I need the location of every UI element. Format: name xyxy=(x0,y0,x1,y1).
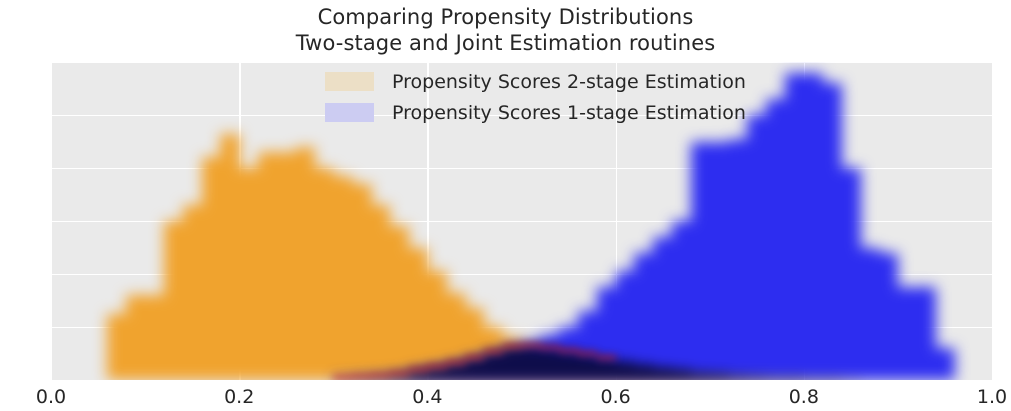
overlap-edge-segment xyxy=(409,368,428,371)
x-tick-label: 0.6 xyxy=(600,386,630,408)
x-tick-label: 0.4 xyxy=(412,386,442,408)
x-tick-label: 1.0 xyxy=(977,386,1007,408)
overlap-edge-segment xyxy=(540,346,559,349)
legend-swatch-1stage-icon xyxy=(325,103,374,122)
overlap-edge-segment xyxy=(559,349,578,352)
chart-legend: Propensity Scores 2-stage Estimation Pro… xyxy=(325,68,746,126)
x-tick-label: 0.2 xyxy=(224,386,254,408)
overlap-edge-segment xyxy=(578,352,597,355)
x-tick-label: 0.0 xyxy=(36,386,66,408)
overlap-edge-segment xyxy=(465,356,484,359)
overlap-edge-segment xyxy=(503,345,522,348)
overlap-edge-segment xyxy=(522,344,541,347)
overlap-edge-segment xyxy=(352,375,371,378)
legend-item-1stage[interactable]: Propensity Scores 1-stage Estimation xyxy=(325,99,746,126)
chart-title: Comparing Propensity Distributions Two-s… xyxy=(0,4,1011,56)
overlap-edge-segment xyxy=(446,361,465,364)
overlap-edge-segment xyxy=(597,356,616,359)
chart-subtitle-line-2: Two-stage and Joint Estimation routines xyxy=(0,30,1011,56)
chart-title-line-1: Comparing Propensity Distributions xyxy=(0,4,1011,30)
overlap-edge-segment xyxy=(371,374,390,377)
legend-swatch-2stage-icon xyxy=(325,72,374,91)
x-tick-label: 0.8 xyxy=(789,386,819,408)
legend-label-2stage: Propensity Scores 2-stage Estimation xyxy=(392,71,746,93)
overlap-edge-segment xyxy=(390,372,409,375)
legend-item-2stage[interactable]: Propensity Scores 2-stage Estimation xyxy=(325,68,746,95)
overlap-edge-segment xyxy=(427,365,446,368)
chart-figure: Comparing Propensity Distributions Two-s… xyxy=(0,0,1011,411)
overlap-edge-segment xyxy=(333,376,352,379)
overlap-edge-segment xyxy=(484,350,503,353)
legend-label-1stage: Propensity Scores 1-stage Estimation xyxy=(392,102,746,124)
